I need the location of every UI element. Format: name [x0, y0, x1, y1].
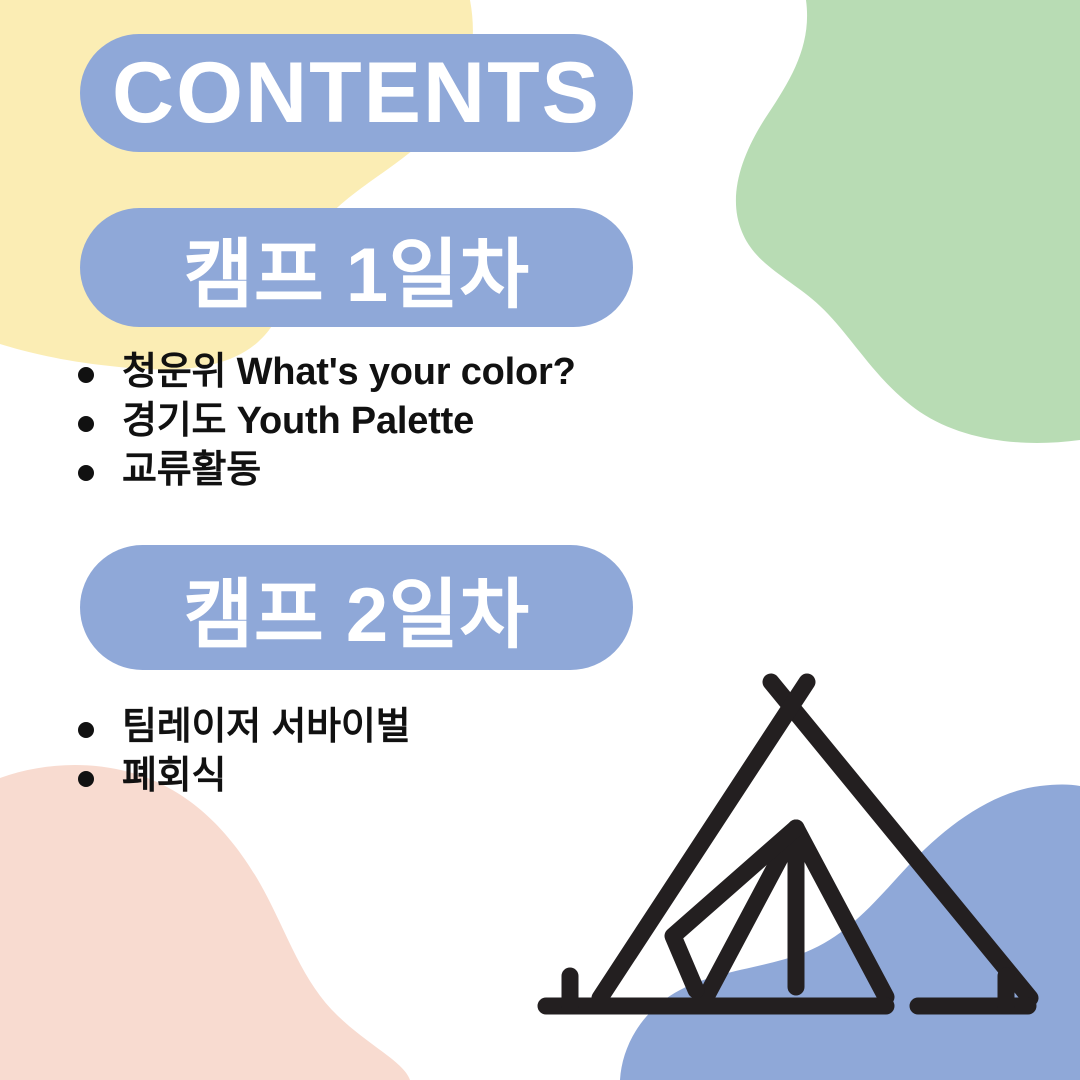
tent-icon: [528, 660, 1048, 1040]
section-heading-day2-pill: 캠프 2일차: [80, 545, 633, 670]
slide-canvas: CONTENTS 캠프 1일차 청운위 What's your color? 경…: [0, 0, 1080, 1080]
page-title: CONTENTS: [112, 44, 601, 143]
list-item-label: 경기도 Youth Palette: [122, 399, 474, 444]
list-item: 폐회식: [78, 754, 410, 799]
bullet-dot-icon: [78, 367, 94, 383]
bullet-dot-icon: [78, 465, 94, 481]
bullet-dot-icon: [78, 416, 94, 432]
pink-blob-bottom-left: [0, 765, 410, 1080]
page-title-pill: CONTENTS: [80, 34, 633, 152]
green-blob-top-right: [736, 0, 1080, 443]
section-heading-day1-pill: 캠프 1일차: [80, 208, 633, 327]
tent-flap-left: [706, 828, 796, 997]
tent-flap-right: [796, 828, 886, 997]
section-heading-day2: 캠프 2일차: [183, 553, 529, 663]
list-item: 경기도 Youth Palette: [78, 399, 576, 444]
list-item-label: 교류활동: [122, 448, 261, 493]
list-item: 팀레이저 서바이벌: [78, 705, 410, 750]
agenda-list-day2: 팀레이저 서바이벌 폐회식: [78, 705, 410, 803]
bullet-dot-icon: [78, 722, 94, 738]
bullet-dot-icon: [78, 771, 94, 787]
list-item-label: 청운위 What's your color?: [122, 350, 576, 395]
agenda-list-day1: 청운위 What's your color? 경기도 Youth Palette…: [78, 350, 576, 496]
list-item: 교류활동: [78, 448, 576, 493]
section-heading-day1: 캠프 1일차: [183, 213, 529, 323]
list-item: 청운위 What's your color?: [78, 350, 576, 395]
list-item-label: 팀레이저 서바이벌: [122, 705, 410, 750]
list-item-label: 폐회식: [122, 754, 226, 799]
